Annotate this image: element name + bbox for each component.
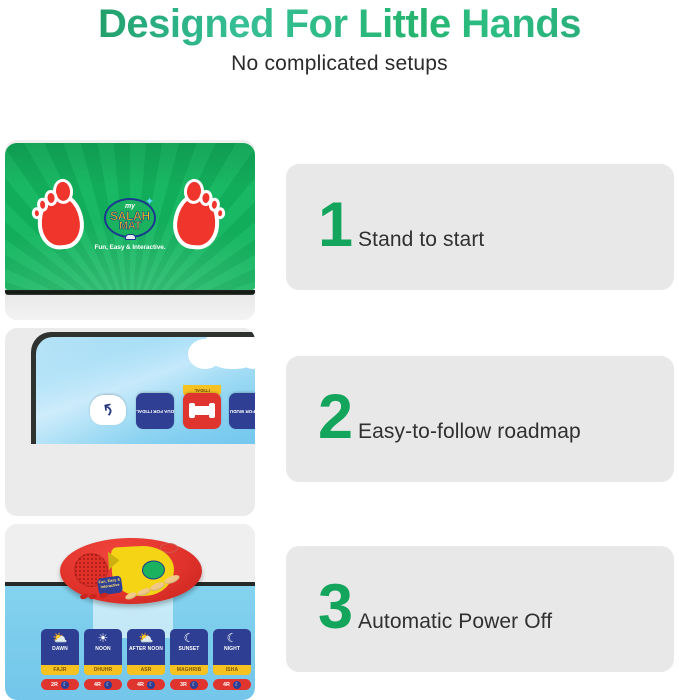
blue-prayer-mat: ⤷ DUA FOR I'TIDAL I'TIDAL DUA FOR WUDU bbox=[31, 332, 255, 444]
moon-icon: ☾ bbox=[104, 681, 112, 689]
prayer-arabic-label: MAGHRIB bbox=[170, 665, 208, 675]
step-panel-2: 2 Easy-to-follow roadmap bbox=[286, 356, 674, 482]
step-panel-3: 3 Automatic Power Off bbox=[286, 546, 674, 672]
step-label-1: Stand to start bbox=[358, 228, 484, 252]
floor-surface bbox=[5, 295, 255, 320]
prayer-english-label: DAWN bbox=[41, 646, 79, 652]
mat-mark-icon bbox=[125, 234, 136, 240]
page-subtitle: No complicated setups bbox=[0, 52, 679, 76]
sun-icon: ☀ bbox=[84, 632, 122, 645]
rakah-badge: 4R☾ bbox=[127, 679, 165, 690]
page-title-text: Designed For Little Hands bbox=[98, 0, 581, 48]
moon-icon: ☾ bbox=[147, 681, 155, 689]
prayer-time-cards: ⛅ DAWN FAJR 2R☾ ☀ NOON DHUHR 4R☾ bbox=[41, 629, 255, 695]
logo-salah-text: SALAH bbox=[104, 209, 156, 223]
triangle-icon bbox=[108, 551, 120, 570]
step-number-1: 1 bbox=[318, 194, 351, 257]
product-photo-control-unit: Fun, Easy & Interactive ⛅ DAWN FAJR bbox=[5, 524, 255, 700]
speaker-control-unit: Fun, Easy & Interactive bbox=[60, 538, 202, 604]
prayer-arabic-label: DHUHR bbox=[84, 665, 122, 675]
cloud-graphic bbox=[204, 337, 255, 369]
moon-icon: ☾ bbox=[61, 681, 69, 689]
rakah-badge: 2R☾ bbox=[41, 679, 79, 690]
step-label-3: Automatic Power Off bbox=[358, 610, 552, 634]
posture-icon bbox=[191, 407, 213, 416]
green-prayer-mat: ✦ my SALAH MAT Fun, Easy & Interactive. bbox=[5, 143, 255, 290]
prayer-card-isha: ☾ NIGHT ISHA 4R☾ bbox=[213, 629, 251, 695]
step-label-2: Easy-to-follow roadmap bbox=[358, 420, 581, 444]
prayer-arabic-label: ISHA bbox=[213, 665, 251, 675]
product-photo-blue-mat: ⤷ DUA FOR I'TIDAL I'TIDAL DUA FOR WUDU bbox=[5, 328, 255, 516]
prayer-arabic-label: FAJR bbox=[41, 665, 79, 675]
promo-page: Designed For Little Hands No complicated… bbox=[0, 0, 679, 700]
logo-mat-text: MAT bbox=[104, 220, 156, 232]
arrow-icon: ⤷ bbox=[98, 399, 118, 421]
sunset-moon-icon: ☾ bbox=[170, 632, 208, 645]
rakah-count: 4R bbox=[137, 682, 144, 688]
moon-icon: ☾ bbox=[190, 681, 198, 689]
logo-tagline: Fun, Easy & Interactive. bbox=[80, 243, 180, 252]
rakah-badge: 4R☾ bbox=[84, 679, 122, 690]
step-panel-1: 1 Stand to start bbox=[286, 164, 674, 290]
prayer-english-label: NIGHT bbox=[213, 646, 251, 652]
logo-my-text: my bbox=[104, 203, 156, 210]
sun-cloud-icon: ⛅ bbox=[127, 632, 165, 645]
rakah-count: 2R bbox=[51, 682, 58, 688]
prayer-card-maghrib: ☾ SUNSET MAGHRIB 3R☾ bbox=[170, 629, 208, 695]
moon-icon: ☾ bbox=[233, 681, 241, 689]
step-row-3: Fun, Easy & Interactive ⛅ DAWN FAJR bbox=[0, 524, 679, 700]
step-row-1: ✦ my SALAH MAT Fun, Easy & Interactive. … bbox=[0, 140, 679, 320]
left-footprint-icon bbox=[34, 177, 92, 251]
prayer-english-label: SUNSET bbox=[170, 646, 208, 652]
rakah-badge: 3R☾ bbox=[170, 679, 208, 690]
product-photo-green-mat: ✦ my SALAH MAT Fun, Easy & Interactive. bbox=[5, 140, 255, 320]
mat-button-dua-for-itidal: DUA FOR I'TIDAL bbox=[136, 393, 174, 429]
sparkle-icon: ✦ bbox=[145, 197, 154, 208]
prayer-card-fajr: ⛅ DAWN FAJR 2R☾ bbox=[41, 629, 79, 695]
moon-icon: ☾ bbox=[213, 632, 251, 645]
right-footprint-icon bbox=[165, 177, 223, 251]
step-number-2: 2 bbox=[318, 386, 351, 449]
prayer-english-label: NOON bbox=[84, 646, 122, 652]
step-number-3: 3 bbox=[318, 576, 351, 639]
prayer-arabic-label: ASR bbox=[127, 665, 165, 675]
rakah-count: 4R bbox=[223, 682, 230, 688]
mat-button-back-arrow: ⤷ bbox=[90, 395, 126, 425]
my-salah-mat-logo: ✦ my SALAH MAT bbox=[104, 198, 156, 238]
rakah-count: 3R bbox=[180, 682, 187, 688]
sunrise-cloud-icon: ⛅ bbox=[41, 632, 79, 645]
mat-button-itidal bbox=[183, 393, 221, 429]
mat-button-row: ⤷ DUA FOR I'TIDAL I'TIDAL DUA FOR WUDU bbox=[90, 393, 255, 433]
prayer-english-label: AFTER NOON bbox=[127, 646, 165, 652]
step-row-2: ⤷ DUA FOR I'TIDAL I'TIDAL DUA FOR WUDU bbox=[0, 328, 679, 516]
mat-button-dua-for-wudu: DUA FOR WUDU bbox=[229, 393, 255, 429]
unit-logo bbox=[141, 560, 165, 580]
prayer-card-asr: ⛅ AFTER NOON ASR 4R☾ bbox=[127, 629, 165, 695]
prayer-card-dhuhr: ☀ NOON DHUHR 4R☾ bbox=[84, 629, 122, 695]
page-title: Designed For Little Hands bbox=[0, 0, 679, 48]
rakah-count: 4R bbox=[94, 682, 101, 688]
rakah-badge: 4R☾ bbox=[213, 679, 251, 690]
